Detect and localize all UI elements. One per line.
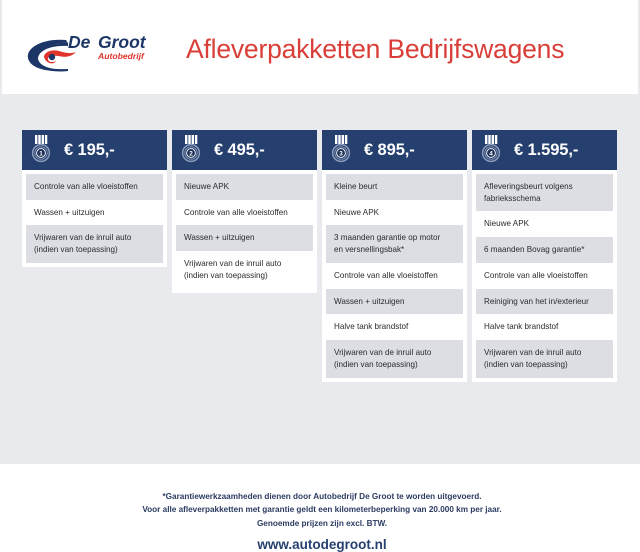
- disclaimer-line-3: Genoemde prijzen zijn excl. BTW.: [2, 517, 640, 530]
- package-item-list: Nieuwe APKControle van alle vloeistoffen…: [172, 170, 317, 293]
- medal-icon: 2: [178, 134, 204, 164]
- medal-icon: 4: [478, 134, 504, 164]
- package-item: Reiniging van het in/exterieur: [476, 289, 613, 315]
- package-price: € 195,-: [64, 141, 115, 160]
- package-price: € 1.595,-: [514, 141, 578, 160]
- delivery-packages-infographic: De Groot Autobedrijf Afleverpakketten Be…: [0, 0, 640, 480]
- package-column: 4 € 1.595,-Afleveringsbeurt volgensfabri…: [472, 130, 617, 382]
- package-price-header: 2 € 495,-: [172, 130, 317, 170]
- package-column: 1 € 195,-Controle van alle vloeistoffenW…: [22, 130, 167, 267]
- svg-text:2: 2: [189, 151, 193, 158]
- medal-icon: 2: [178, 134, 204, 164]
- package-price-header: 4 € 1.595,-: [472, 130, 617, 170]
- medal-icon: 1: [28, 134, 54, 164]
- package-item: Wassen + uitzuigen: [176, 225, 313, 251]
- package-column: 3 € 895,-Kleine beurtNieuwe APK3 maanden…: [322, 130, 467, 382]
- svg-text:De: De: [68, 32, 91, 52]
- bottom-strip: [0, 464, 640, 480]
- svg-text:3: 3: [339, 151, 343, 158]
- package-item-list: Kleine beurtNieuwe APK3 maanden garantie…: [322, 170, 467, 382]
- package-item: Controle van alle vloeistoffen: [476, 263, 613, 289]
- package-item: 6 maanden Bovag garantie*: [476, 237, 613, 263]
- disclaimer-line-1: *Garantiewerkzaamheden dienen door Autob…: [2, 490, 640, 503]
- package-item: Nieuwe APK: [176, 174, 313, 200]
- medal-icon: 3: [328, 134, 354, 164]
- package-columns: 1 € 195,-Controle van alle vloeistoffenW…: [22, 130, 622, 382]
- package-item: Afleveringsbeurt volgensfabrieksschema: [476, 174, 613, 211]
- package-item: Nieuwe APK: [476, 211, 613, 237]
- package-item: Halve tank brandstof: [326, 314, 463, 340]
- package-item-list: Afleveringsbeurt volgensfabrieksschemaNi…: [472, 170, 617, 382]
- medal-icon: 3: [328, 134, 354, 164]
- package-item: Controle van alle vloeistoffen: [26, 174, 163, 200]
- package-item: Controle van alle vloeistoffen: [326, 263, 463, 289]
- de-groot-logo-graphic: De Groot Autobedrijf: [24, 26, 174, 76]
- package-item: Vrijwaren van de inruil auto(indien van …: [176, 251, 313, 288]
- package-item: Wassen + uitzuigen: [326, 289, 463, 315]
- medal-icon: 1: [28, 134, 54, 164]
- medal-icon: 4: [478, 134, 504, 164]
- website-url[interactable]: www.autodegroot.nl: [2, 537, 640, 552]
- package-price-header: 3 € 895,-: [322, 130, 467, 170]
- svg-text:4: 4: [489, 151, 493, 158]
- package-price: € 895,-: [364, 141, 415, 160]
- package-item: Vrijwaren van de inruil auto(indien van …: [326, 340, 463, 377]
- package-item: Nieuwe APK: [326, 200, 463, 226]
- page-title: Afleverpakketten Bedrijfswagens: [186, 34, 564, 65]
- package-item: Kleine beurt: [326, 174, 463, 200]
- packages-panel: 1 € 195,-Controle van alle vloeistoffenW…: [0, 94, 640, 464]
- package-item: Halve tank brandstof: [476, 314, 613, 340]
- package-price: € 495,-: [214, 141, 265, 160]
- footer-disclaimer: *Garantiewerkzaamheden dienen door Autob…: [2, 490, 640, 530]
- page-header: De Groot Autobedrijf Afleverpakketten Be…: [0, 0, 640, 94]
- de-groot-logo: De Groot Autobedrijf: [24, 26, 174, 76]
- package-item: Vrijwaren van de inruil auto(indien van …: [26, 225, 163, 262]
- package-item: Wassen + uitzuigen: [26, 200, 163, 226]
- package-price-header: 1 € 195,-: [22, 130, 167, 170]
- svg-text:1: 1: [39, 151, 43, 158]
- package-item: Vrijwaren van de inruil auto(indien van …: [476, 340, 613, 377]
- package-item: 3 maanden garantie op motoren versnellin…: [326, 225, 463, 262]
- disclaimer-line-2: Voor alle afleverpakketten met garantie …: [2, 503, 640, 516]
- svg-text:Autobedrijf: Autobedrijf: [97, 51, 145, 61]
- package-item: Controle van alle vloeistoffen: [176, 200, 313, 226]
- package-item-list: Controle van alle vloeistoffenWassen + u…: [22, 170, 167, 267]
- svg-text:Groot: Groot: [98, 32, 147, 52]
- package-column: 2 € 495,-Nieuwe APKControle van alle vlo…: [172, 130, 317, 293]
